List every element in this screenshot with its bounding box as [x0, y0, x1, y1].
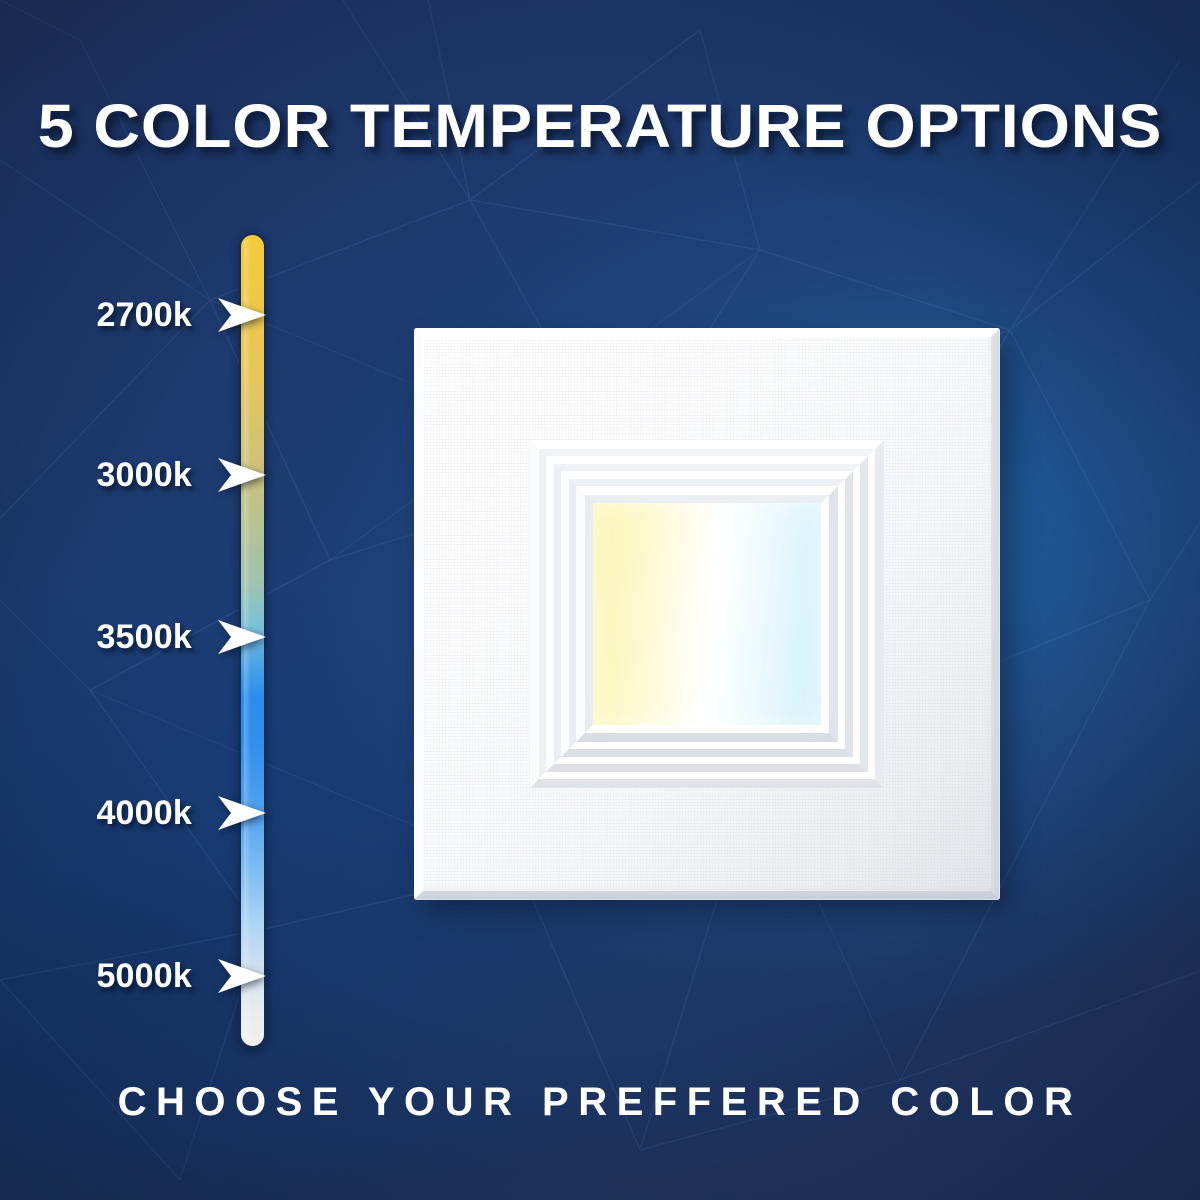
scale-tick-3000k[interactable]: 3000k: [52, 452, 268, 498]
led-downlight-fixture[interactable]: [414, 328, 1000, 900]
arrow-right-icon: [214, 455, 268, 495]
footer-caption: CHOOSE YOUR PREFFERED COLOR: [0, 1080, 1200, 1125]
scale-tick-label: 2700k: [52, 296, 192, 335]
scale-tick-3500k[interactable]: 3500k: [52, 614, 268, 660]
stepped-baffle: [530, 440, 884, 788]
scale-tick-2700k[interactable]: 2700k: [52, 292, 268, 338]
scale-tick-label: 4000k: [52, 794, 192, 833]
infographic-canvas: 5 COLOR TEMPERATURE OPTIONS 2700k 3000k …: [0, 0, 1200, 1200]
scale-tick-label: 3000k: [52, 456, 192, 495]
scale-tick-label: 3500k: [52, 618, 192, 657]
page-title: 5 COLOR TEMPERATURE OPTIONS: [0, 96, 1200, 157]
arrow-right-icon: [214, 617, 268, 657]
arrow-right-icon: [214, 793, 268, 833]
scale-tick-label: 5000k: [52, 957, 192, 996]
scale-tick-5000k[interactable]: 5000k: [52, 953, 268, 999]
scale-tick-4000k[interactable]: 4000k: [52, 790, 268, 836]
arrow-right-icon: [214, 295, 268, 335]
arrow-right-icon: [214, 956, 268, 996]
lit-diffuser-panel[interactable]: [593, 503, 821, 725]
